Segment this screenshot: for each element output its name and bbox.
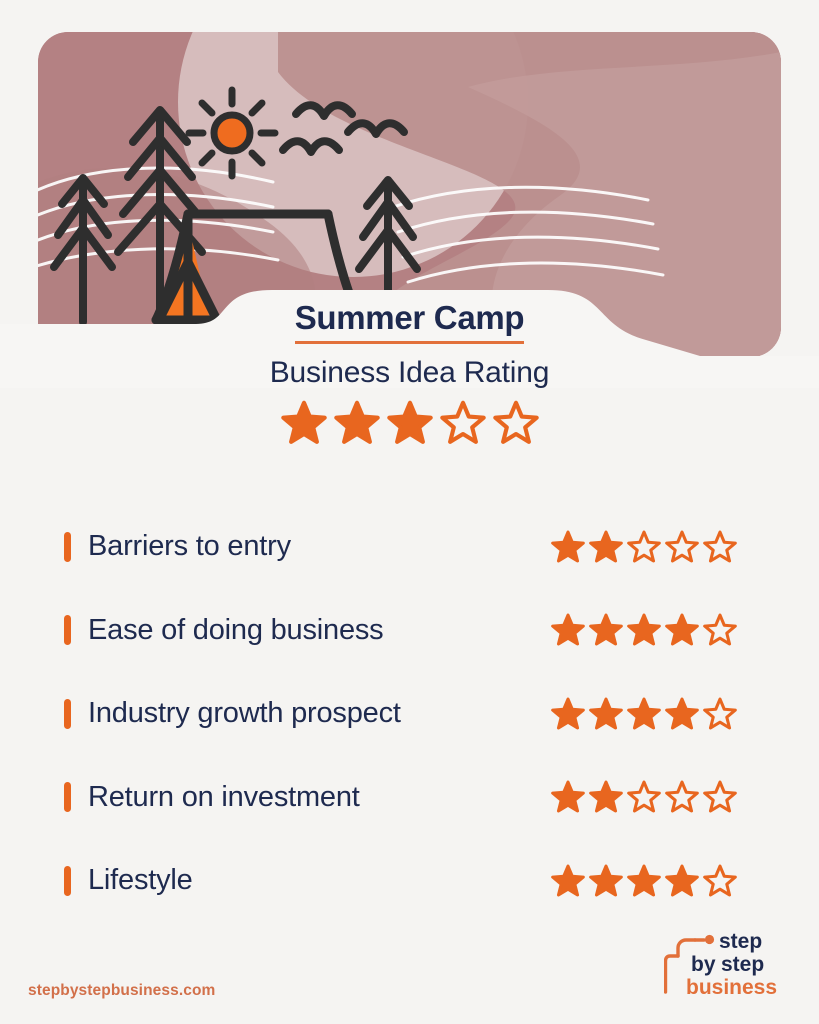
logo-text-by: by — [691, 953, 716, 976]
rating-row: Barriers to entry — [0, 505, 819, 589]
sun-icon — [189, 90, 275, 176]
star-filled-icon — [589, 530, 623, 564]
star-filled-icon — [551, 697, 585, 731]
star-filled-icon — [387, 400, 433, 446]
star-filled-icon — [627, 613, 661, 647]
star-filled-icon — [551, 780, 585, 814]
rating-stars — [551, 780, 737, 814]
rating-label: Barriers to entry — [88, 530, 291, 563]
rating-stars — [551, 864, 737, 898]
star-filled-icon — [589, 864, 623, 898]
star-empty-icon — [703, 864, 737, 898]
rating-row: Ease of doing business — [0, 589, 819, 673]
footer-website-url[interactable]: stepbystepbusiness.com — [28, 982, 215, 1000]
page-title: Summer Camp — [295, 300, 525, 344]
rating-row: Return on investment — [0, 756, 819, 840]
bullet-marker — [64, 532, 71, 562]
logo-text-step: step — [719, 930, 762, 953]
rating-stars — [551, 613, 737, 647]
star-empty-icon — [665, 530, 699, 564]
star-empty-icon — [703, 530, 737, 564]
title-block: Summer Camp Business Idea Rating — [0, 300, 819, 446]
star-empty-icon — [627, 530, 661, 564]
brand-logo[interactable]: step by step business — [664, 930, 792, 1008]
star-empty-icon — [440, 400, 486, 446]
star-filled-icon — [589, 780, 623, 814]
rating-label: Industry growth prospect — [88, 697, 401, 730]
rating-stars — [551, 697, 737, 731]
star-filled-icon — [551, 864, 585, 898]
star-empty-icon — [703, 780, 737, 814]
star-filled-icon — [627, 697, 661, 731]
bullet-marker — [64, 699, 71, 729]
star-empty-icon — [493, 400, 539, 446]
star-empty-icon — [665, 780, 699, 814]
star-empty-icon — [627, 780, 661, 814]
star-filled-icon — [551, 530, 585, 564]
page-subtitle: Business Idea Rating — [0, 356, 819, 390]
rating-row: Lifestyle — [0, 839, 819, 923]
rating-list: Barriers to entry Ease of doing business… — [0, 505, 819, 923]
bullet-marker — [64, 866, 71, 896]
star-empty-icon — [703, 613, 737, 647]
logo-text-business: business — [686, 976, 777, 999]
star-filled-icon — [551, 613, 585, 647]
star-filled-icon — [665, 864, 699, 898]
star-filled-icon — [281, 400, 327, 446]
overall-rating-stars — [0, 400, 819, 446]
rating-stars — [551, 530, 737, 564]
star-filled-icon — [589, 613, 623, 647]
rating-row: Industry growth prospect — [0, 672, 819, 756]
star-filled-icon — [665, 697, 699, 731]
rating-label: Return on investment — [88, 781, 360, 814]
logo-dot-icon — [705, 935, 714, 944]
star-filled-icon — [589, 697, 623, 731]
star-filled-icon — [627, 864, 661, 898]
rating-label: Lifestyle — [88, 864, 193, 897]
star-filled-icon — [334, 400, 380, 446]
star-empty-icon — [703, 697, 737, 731]
bullet-marker — [64, 615, 71, 645]
bullet-marker — [64, 782, 71, 812]
infographic-page: Summer Camp Business Idea Rating Barrier… — [0, 0, 819, 1024]
logo-text-step2: step — [721, 953, 764, 976]
star-filled-icon — [665, 613, 699, 647]
rating-label: Ease of doing business — [88, 614, 383, 647]
